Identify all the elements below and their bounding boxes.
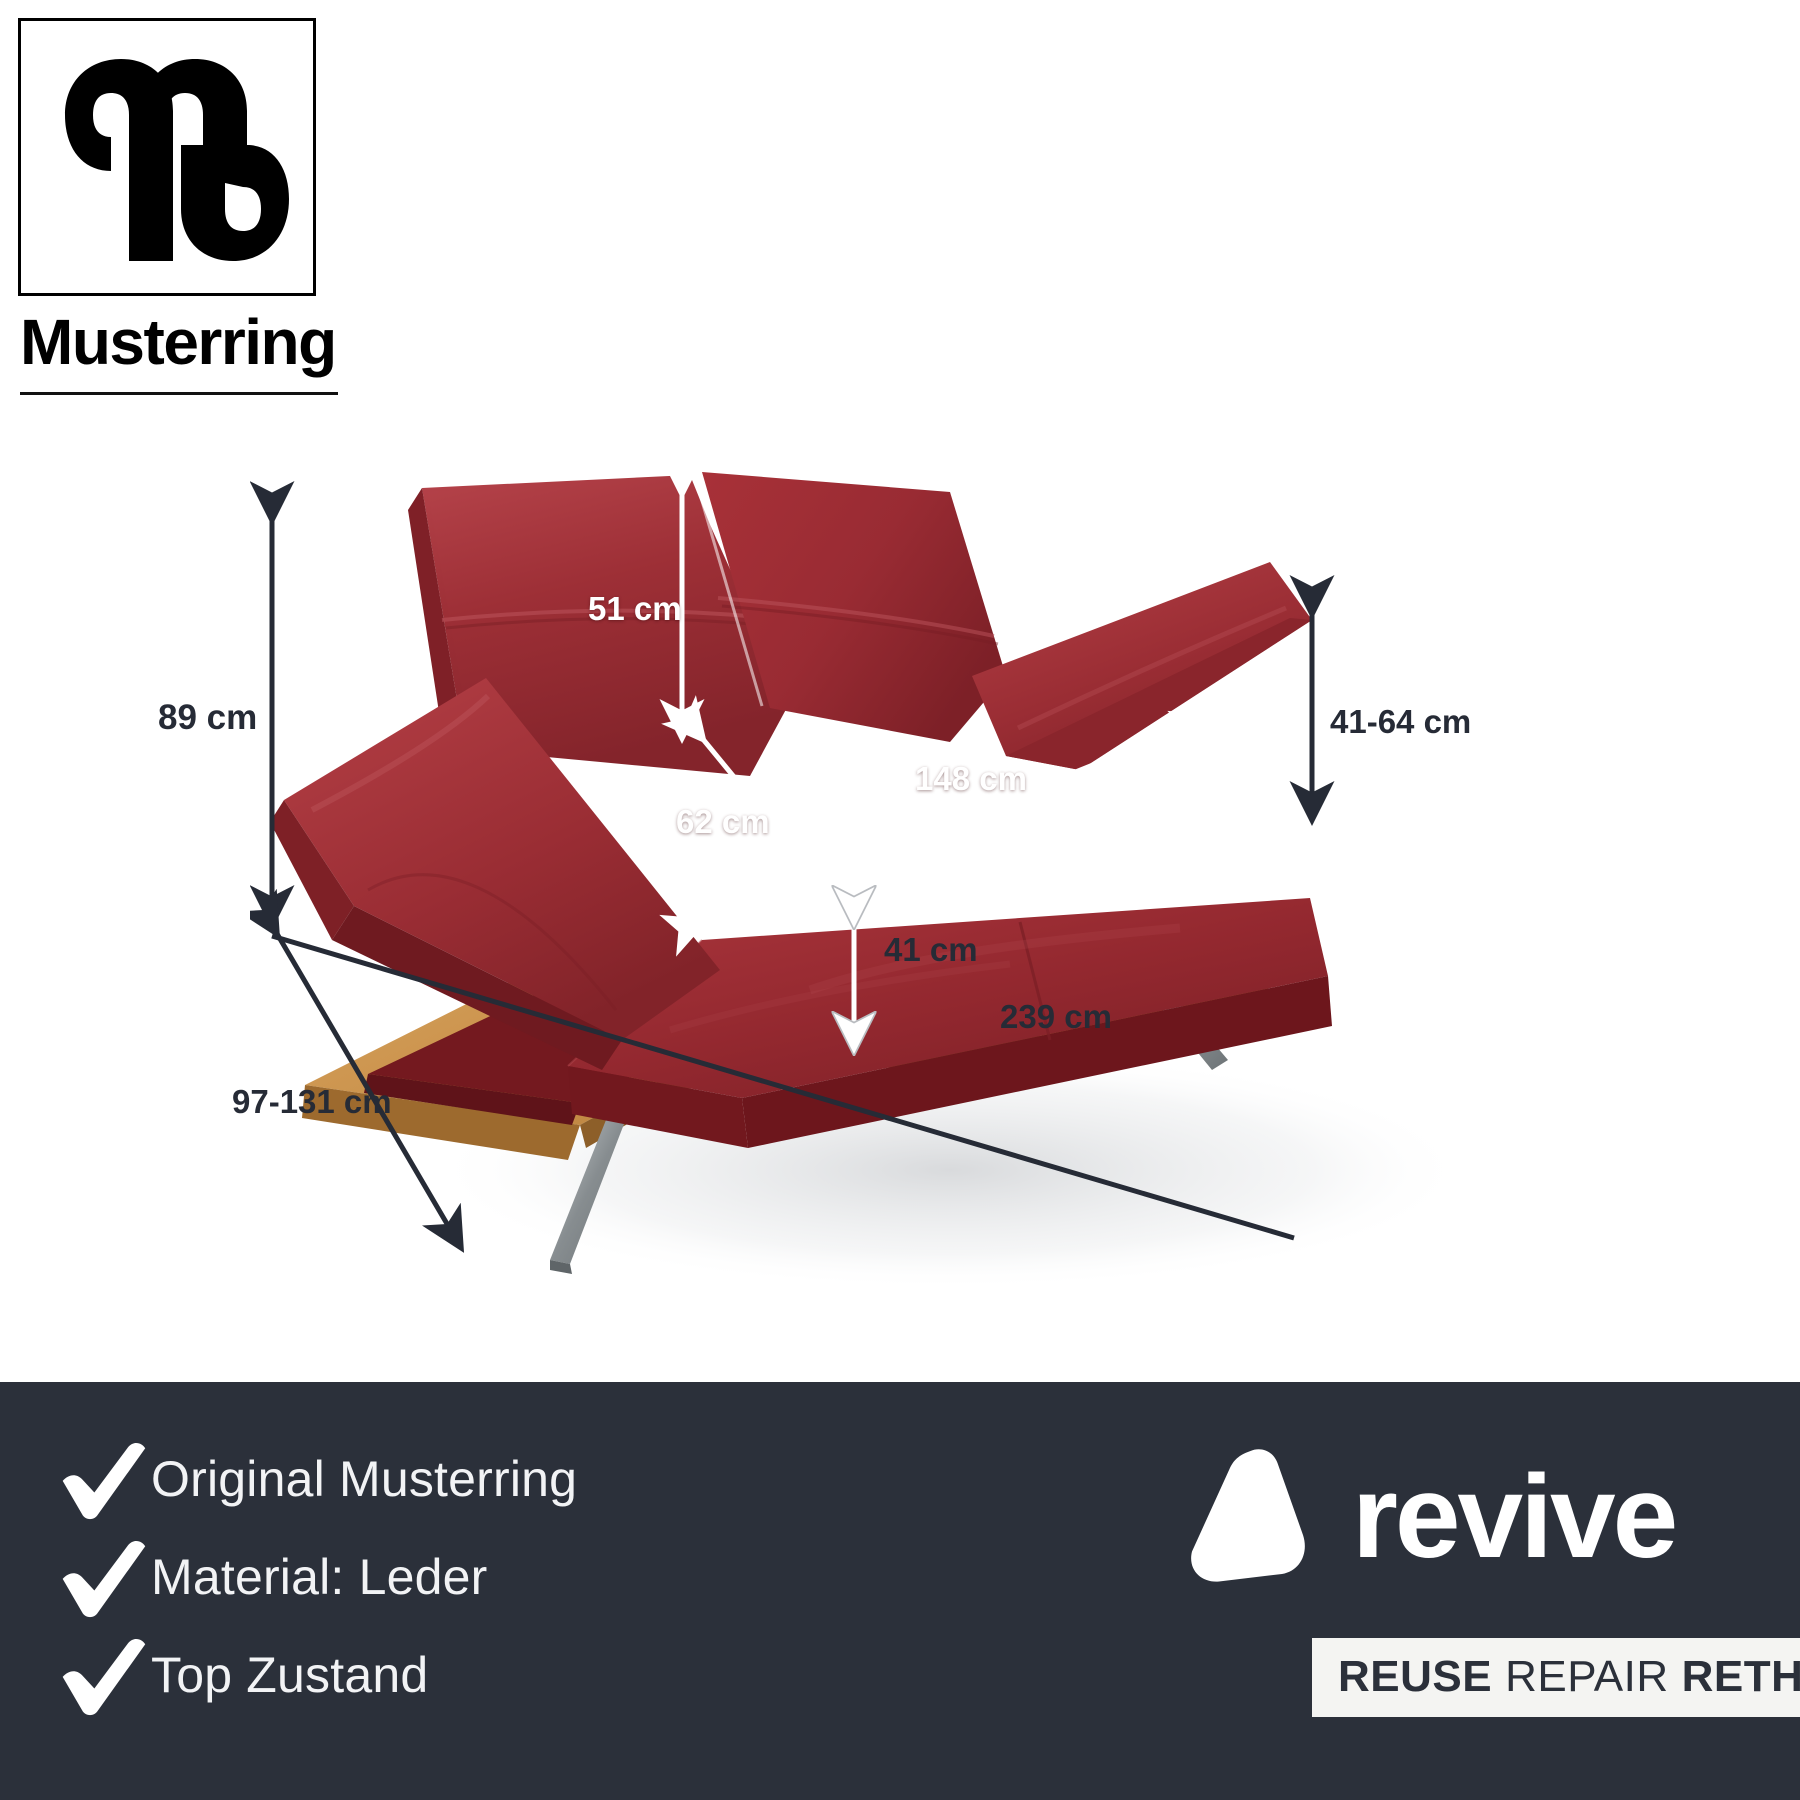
- tagline-word-reuse: REUSE: [1338, 1652, 1492, 1702]
- brand-logo: Musterring: [18, 18, 363, 448]
- dimension-total-depth: 97-131 cm: [232, 1085, 392, 1118]
- dimension-backrest-height: 51 cm: [588, 592, 682, 625]
- brand-rule-divider: [20, 392, 338, 395]
- revive-leaf-icon: [1180, 1442, 1330, 1592]
- logo-frame: [18, 18, 316, 296]
- product-photo: [250, 470, 1550, 1320]
- dimension-seat-width: 148 cm: [915, 762, 1027, 795]
- product-dimension-card: Musterring: [0, 0, 1800, 1800]
- dimension-arrow-seat-width: [702, 718, 1210, 922]
- revive-wordmark: revive: [1352, 1458, 1675, 1576]
- brand-wordmark: Musterring: [20, 310, 336, 374]
- dimension-armrest-height: 41-64 cm: [1330, 705, 1471, 738]
- feature-item: Material: Leder: [55, 1528, 915, 1626]
- tagline-word-rethink: RETHINK: [1682, 1652, 1800, 1702]
- dimension-total-height: 89 cm: [158, 700, 257, 735]
- feature-item: Original Musterring: [55, 1430, 915, 1528]
- musterring-monogram-icon: [51, 49, 289, 271]
- check-icon: [55, 1431, 151, 1527]
- check-icon: [55, 1627, 151, 1723]
- feature-label: Material: Leder: [151, 1548, 488, 1606]
- feature-list: Original Musterring Material: Leder Top …: [55, 1430, 915, 1724]
- tagline-word-repair: REPAIR: [1505, 1652, 1669, 1702]
- dimension-seat-height: 41 cm: [884, 933, 978, 966]
- dimension-seat-depth: 62 cm: [676, 805, 770, 838]
- dimension-total-width: 239 cm: [1000, 1000, 1112, 1033]
- revive-logo: revive REUSE REPAIR RETHINK: [1180, 1442, 1740, 1742]
- revive-tagline: REUSE REPAIR RETHINK: [1312, 1638, 1800, 1717]
- check-icon: [55, 1529, 151, 1625]
- sofa-illustration: [250, 470, 1550, 1320]
- feature-label: Top Zustand: [151, 1646, 428, 1704]
- feature-item: Top Zustand: [55, 1626, 915, 1724]
- revive-lockup: revive: [1180, 1442, 1675, 1592]
- feature-label: Original Musterring: [151, 1450, 577, 1508]
- footer-bar: Original Musterring Material: Leder Top …: [0, 1382, 1800, 1800]
